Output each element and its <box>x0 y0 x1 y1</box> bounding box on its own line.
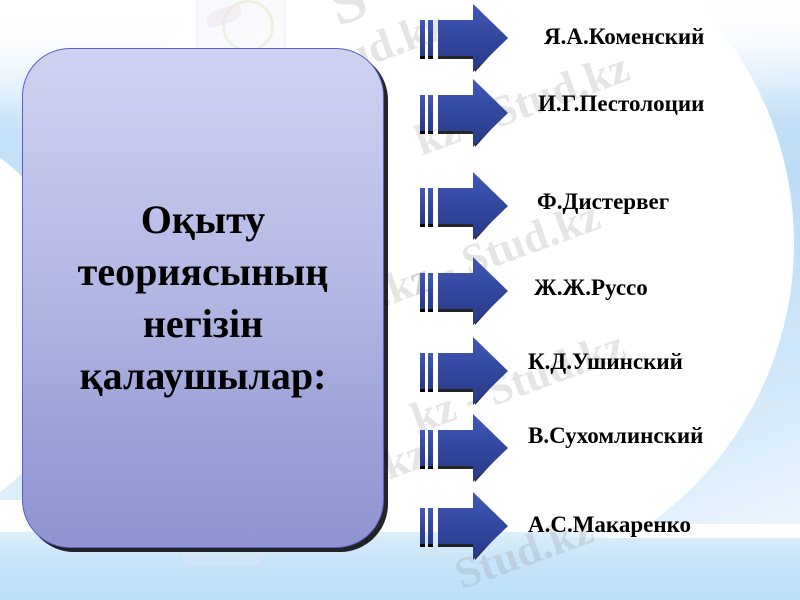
page-title: Оқыту теориясының негізін қалаушылар: <box>66 194 341 402</box>
striped-right-arrow-icon <box>418 77 510 149</box>
slide-canvas: Stud.kz kz - Stud.kz Stud.kz z - Stud.kz… <box>0 0 800 600</box>
title-line: негізін <box>78 298 329 350</box>
title-box[interactable]: Оқыту теориясының негізін қалаушылар: <box>22 48 384 548</box>
item-label: В.Сухомлинский <box>528 424 703 447</box>
title-line: Оқыту <box>78 194 329 246</box>
title-line: қалаушылар: <box>78 350 329 402</box>
striped-right-arrow-icon <box>418 412 510 484</box>
item-label: Ж.Ж.Руссо <box>534 276 648 299</box>
striped-right-arrow-icon <box>418 255 510 327</box>
item-label: И.Г.Пестолоции <box>538 92 704 115</box>
item-label: К.Д.Ушинский <box>528 350 683 373</box>
striped-right-arrow-icon <box>418 490 510 562</box>
item-label: Я.А.Коменский <box>544 25 704 48</box>
striped-right-arrow-icon <box>418 170 510 242</box>
title-line: теориясының <box>78 246 329 298</box>
striped-right-arrow-icon <box>418 335 510 407</box>
item-label: А.С.Макаренко <box>528 513 691 536</box>
item-label: Ф.Дистервег <box>537 190 669 213</box>
striped-right-arrow-icon <box>418 2 510 74</box>
